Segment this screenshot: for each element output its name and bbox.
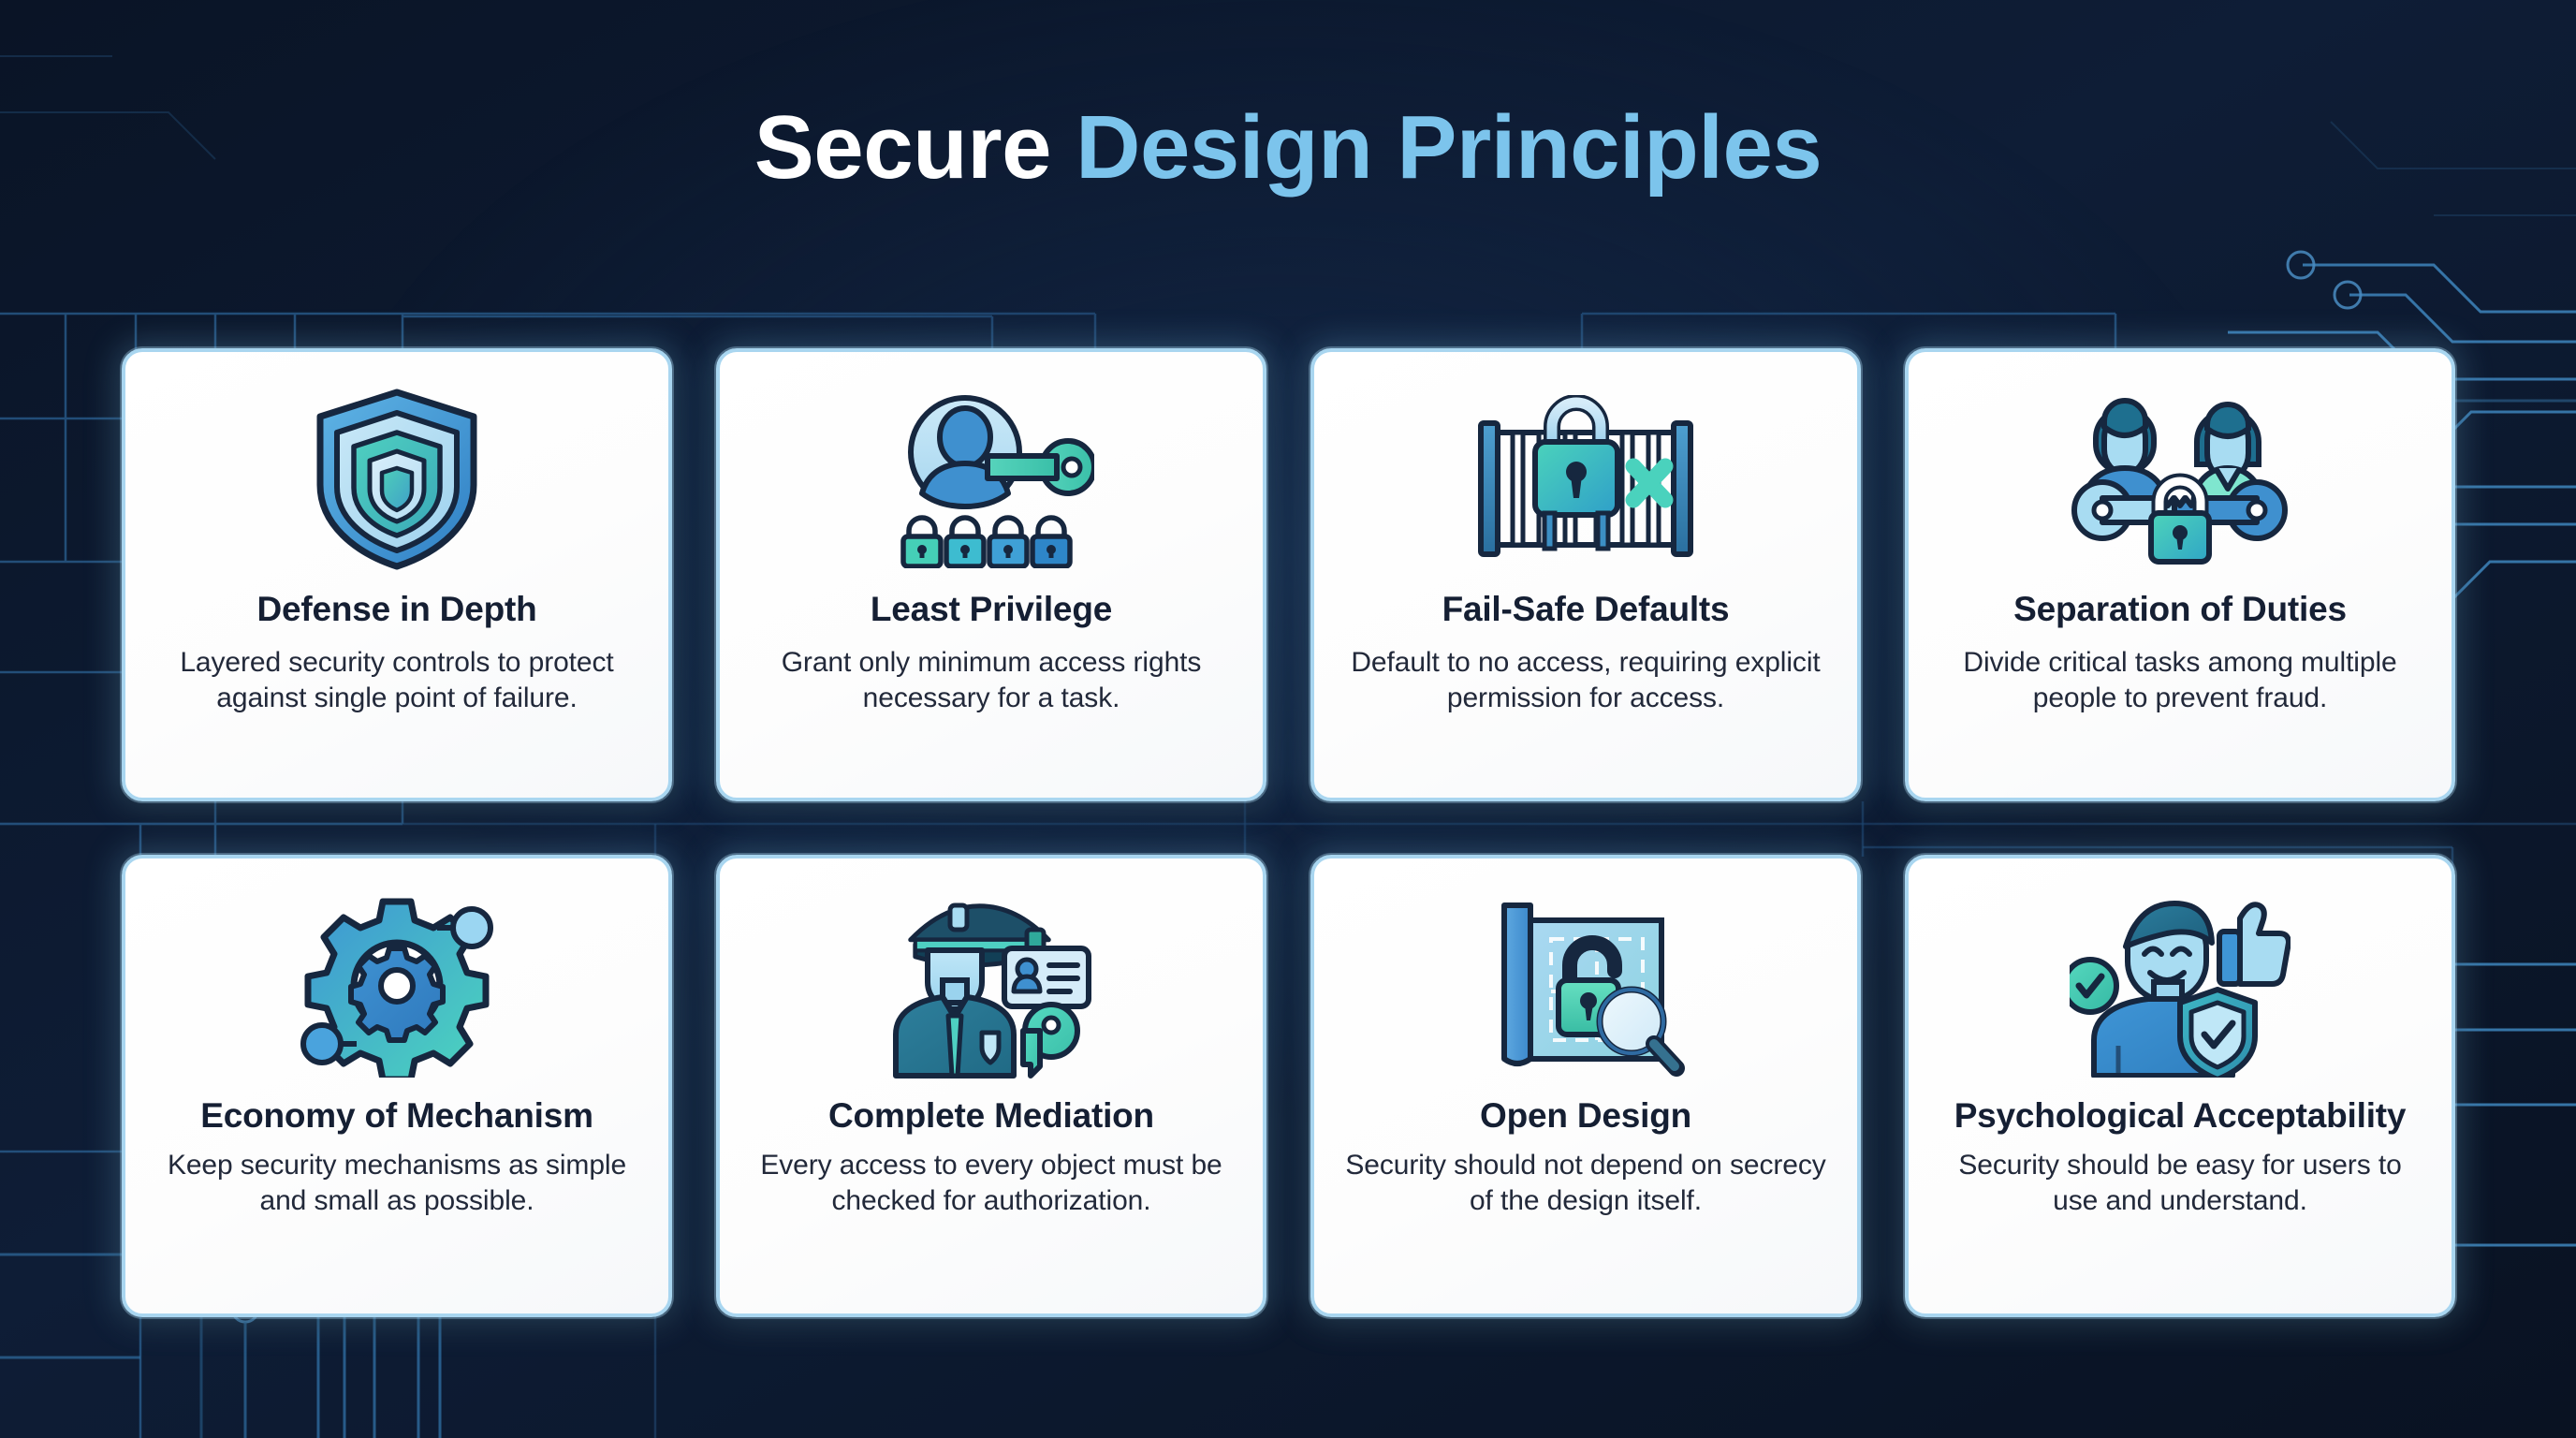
card-description: Keep security mechanisms as simple and s…	[150, 1148, 644, 1219]
blueprint-open-lock-magnifier-icon	[1484, 892, 1688, 1079]
gear-icon	[300, 892, 493, 1079]
card-title: Economy of Mechanism	[200, 1096, 593, 1137]
card-description: Every access to every object must be che…	[744, 1148, 1238, 1219]
card-title: Least Privilege	[871, 590, 1112, 630]
card-title: Complete Mediation	[828, 1096, 1154, 1137]
guard-badge-key-icon	[885, 892, 1098, 1079]
card-description: Layered security controls to protect aga…	[150, 645, 644, 716]
user-key-padlocks-icon	[888, 386, 1094, 573]
card-title: Defense in Depth	[256, 590, 536, 630]
card-title: Open Design	[1480, 1096, 1691, 1137]
card-description: Security should be easy for users to use…	[1933, 1148, 2427, 1219]
card-description: Grant only minimum access rights necessa…	[744, 645, 1238, 716]
principle-card-separation-of-duties[interactable]: Separation of Duties Divide critical tas…	[1905, 348, 2455, 801]
gate-padlock-cross-icon	[1473, 386, 1698, 573]
page-title: Secure Design Principles	[0, 101, 2576, 196]
principle-card-open-design[interactable]: Open Design Security should not depend o…	[1310, 855, 1861, 1317]
principle-card-psychological-acceptability[interactable]: Psychological Acceptability Security sho…	[1905, 855, 2455, 1317]
principle-card-economy-of-mechanism[interactable]: Economy of Mechanism Keep security mecha…	[122, 855, 672, 1317]
principles-grid: Defense in Depth Layered security contro…	[122, 348, 2454, 1317]
card-title: Psychological Acceptability	[1954, 1096, 2407, 1137]
title-word-design-principles: Design Principles	[1076, 97, 1822, 198]
card-description: Default to no access, requiring explicit…	[1339, 645, 1833, 716]
card-title: Fail-Safe Defaults	[1442, 590, 1730, 630]
page-header: Secure Design Principles	[0, 101, 2576, 196]
principle-card-defense-in-depth[interactable]: Defense in Depth Layered security contro…	[122, 348, 672, 801]
principle-card-fail-safe-defaults[interactable]: Fail-Safe Defaults Default to no access,…	[1310, 348, 1861, 801]
happy-user-shield-thumbsup-icon	[2070, 892, 2291, 1079]
card-description: Security should not depend on secrecy of…	[1339, 1148, 1833, 1219]
layered-shield-icon	[310, 386, 484, 573]
principle-card-least-privilege[interactable]: Least Privilege Grant only minimum acces…	[716, 348, 1266, 801]
card-description: Divide critical tasks among multiple peo…	[1933, 645, 2427, 716]
card-title: Separation of Duties	[2013, 590, 2347, 630]
two-people-keys-lock-icon	[2063, 386, 2297, 573]
title-word-secure: Secure	[754, 97, 1051, 198]
principle-card-complete-mediation[interactable]: Complete Mediation Every access to every…	[716, 855, 1266, 1317]
